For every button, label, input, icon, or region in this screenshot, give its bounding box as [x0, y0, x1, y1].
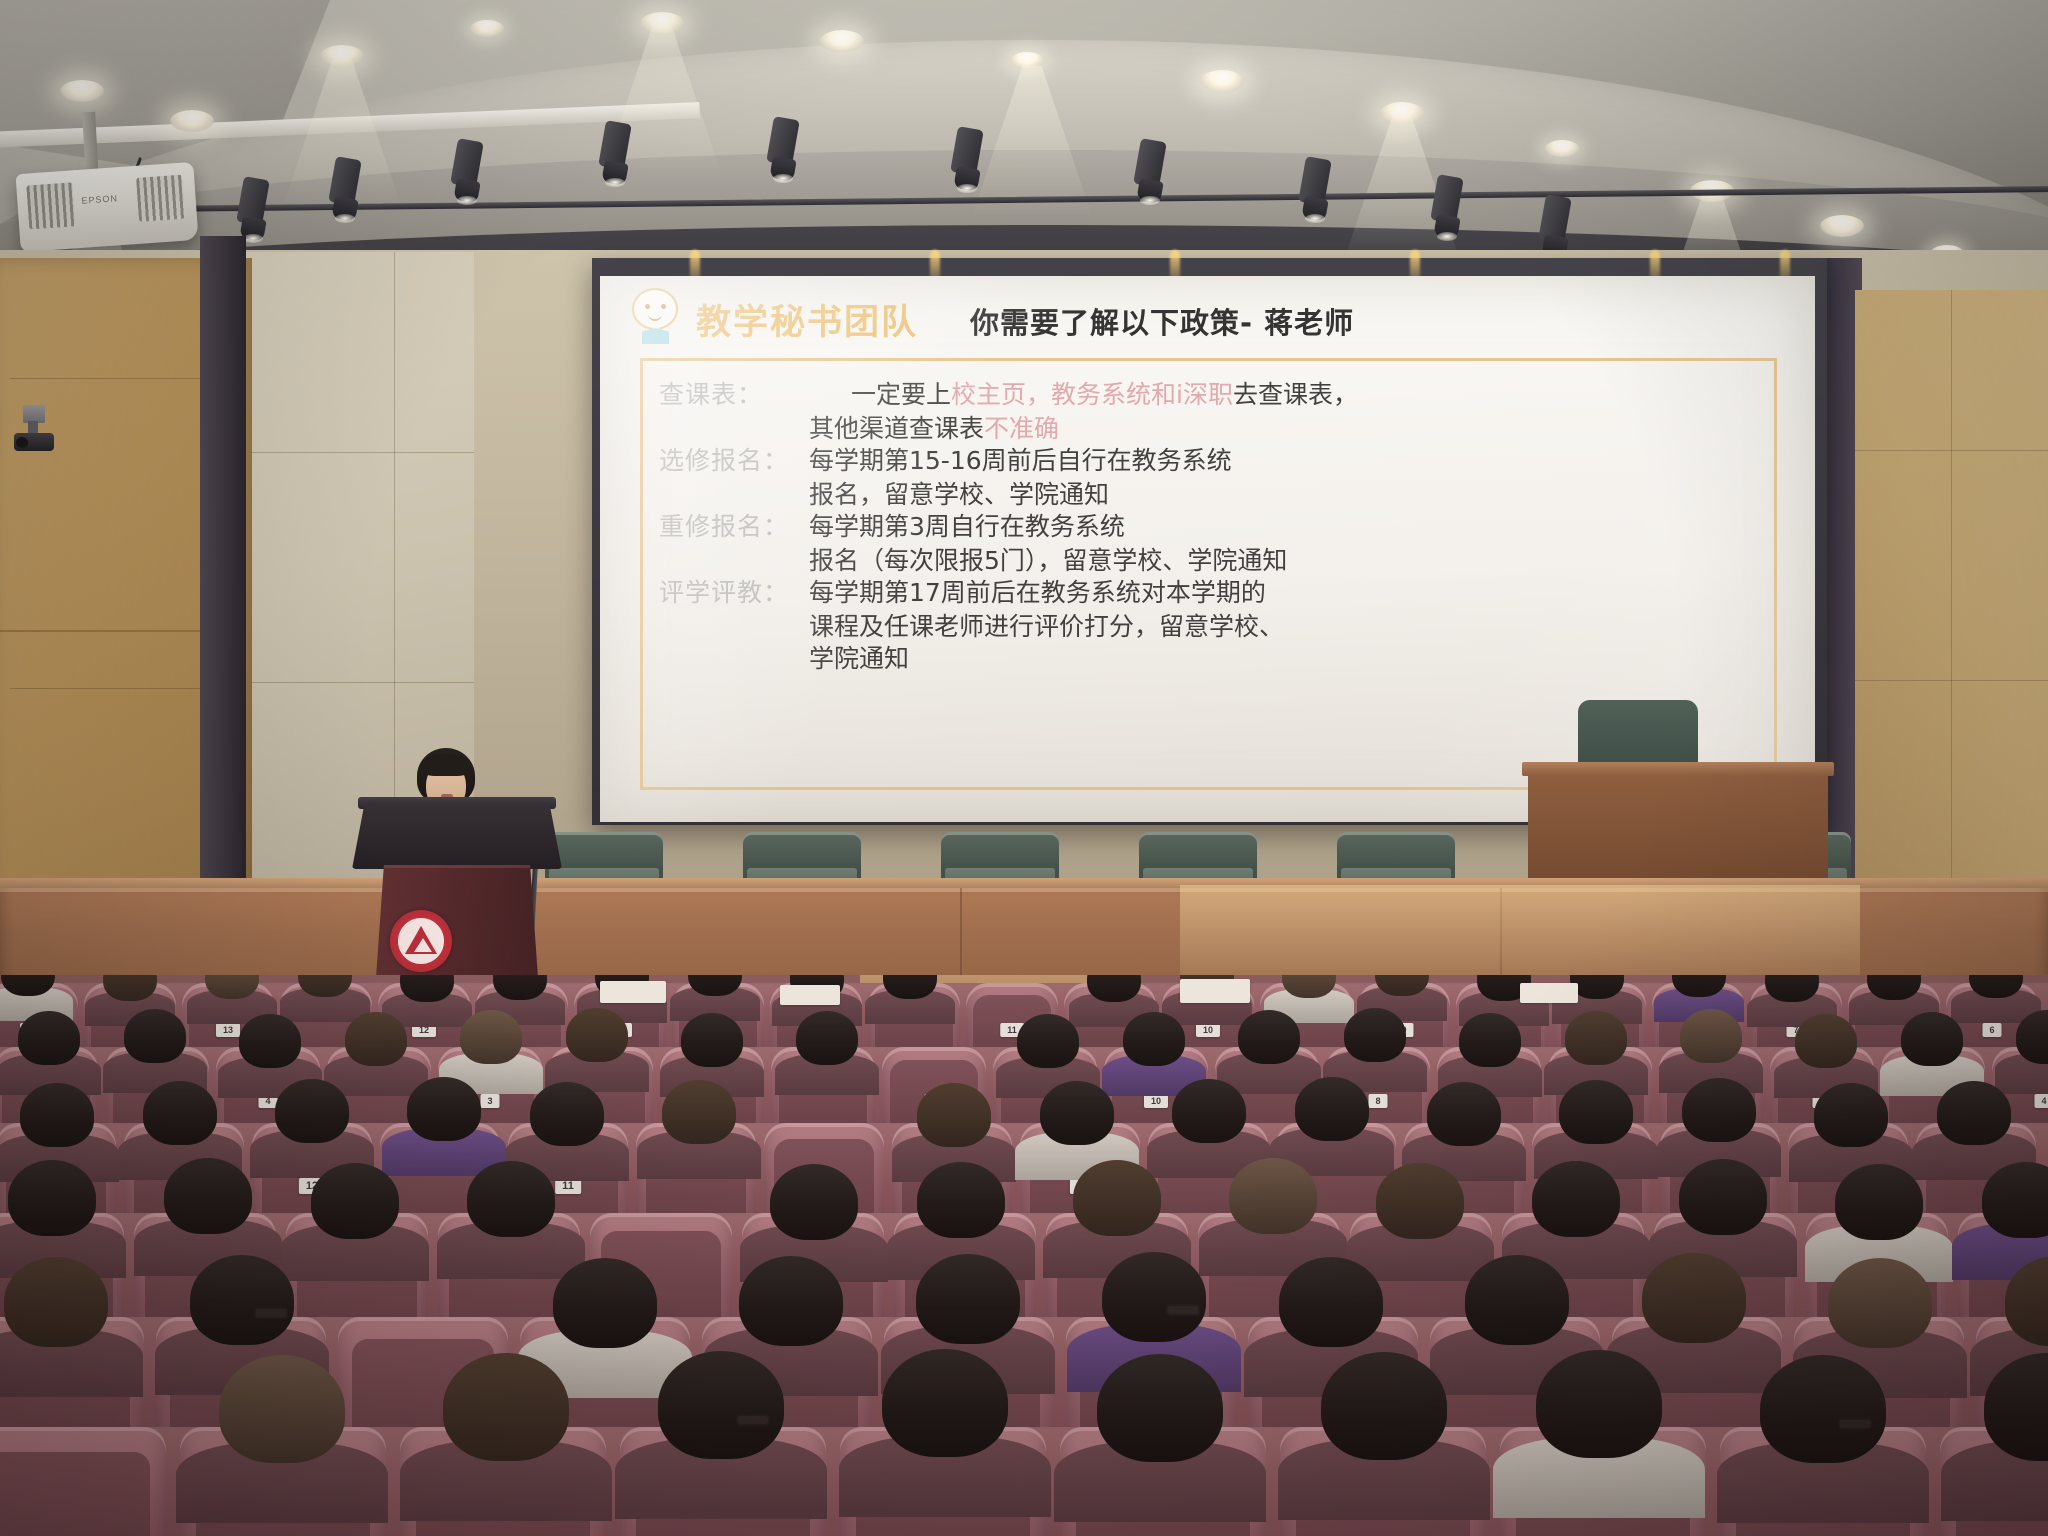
audience-member-head — [1040, 1081, 1114, 1145]
track-spotlight — [768, 118, 798, 182]
track-spotlight — [1135, 140, 1165, 204]
audience-member-head — [770, 1164, 858, 1240]
audience-member-head — [681, 1013, 743, 1067]
audience-member-head — [467, 1161, 555, 1237]
audience-seating: 141312131211109876543261089642121187 — [0, 975, 2048, 1536]
audience-member-head — [530, 1082, 604, 1146]
audience-member-head — [407, 1077, 481, 1141]
paper-sheet — [1520, 983, 1578, 1003]
audience-member-head — [566, 1008, 628, 1062]
audience-member-head — [8, 1160, 96, 1236]
audience-member-head — [18, 1011, 80, 1065]
audience-member-head — [460, 1010, 522, 1064]
audience-member-head — [1073, 1160, 1161, 1236]
eyeglasses-icon — [1166, 1304, 1200, 1316]
policy-label: 查课表： — [659, 379, 809, 412]
audience-member-head — [1465, 1255, 1569, 1345]
slide-brand: 教学秘书团队 — [696, 294, 918, 345]
ceiling-downlight — [1545, 140, 1579, 157]
audience-member-head — [1682, 1078, 1756, 1142]
policy-row-evaluation-line3: 学院通知 — [659, 643, 1766, 676]
audience-member-head — [1229, 1158, 1317, 1234]
policy-row-retake: 重修报名： 每学期第3周自行在教务系统 — [659, 511, 1766, 544]
audience-member-head — [1102, 1252, 1206, 1342]
ceiling-projector: EPSON — [15, 162, 198, 252]
audience-member-head — [1814, 1083, 1888, 1147]
audience-member-head — [662, 1080, 736, 1144]
policy-text: 每学期第15-16周前后自行在教务系统 — [809, 445, 1766, 478]
audience-member-head — [1376, 1163, 1464, 1239]
ceiling-downlight — [820, 30, 864, 52]
audience-member-head — [311, 1163, 399, 1239]
audience-member-head — [916, 1254, 1020, 1344]
audience-member-head — [553, 1258, 657, 1348]
audience-seat[interactable] — [0, 1427, 166, 1536]
audience-member-head — [917, 1162, 1005, 1238]
podium-desktop — [352, 803, 562, 869]
audience-member-head — [917, 1083, 991, 1147]
audience-member-head — [1559, 1080, 1633, 1144]
audience-member-head — [219, 1355, 345, 1463]
seat-number-tag: 6 — [1982, 1023, 2001, 1037]
side-stage-desk — [1528, 772, 1828, 890]
policy-text: 每学期第17周前后在教务系统对本学期的 — [809, 577, 1766, 610]
camera-lens-icon — [16, 437, 28, 448]
policy-row-elective: 选修报名： 每学期第15-16周前后自行在教务系统 — [659, 445, 1766, 478]
seat-number-tag: 10 — [1144, 1094, 1168, 1108]
audience-member-head — [1680, 1009, 1742, 1063]
eyeglasses-icon — [736, 1414, 770, 1426]
policy-text: 一定要上校主页，教务系统和i深职去查课表， — [809, 379, 1766, 412]
ceiling-downlight — [1820, 215, 1864, 237]
ceiling-downlight — [320, 45, 364, 67]
paper-sheet — [780, 985, 840, 1005]
audience-member-head — [1828, 1258, 1932, 1348]
audience-member-head — [1427, 1082, 1501, 1146]
seat-number-tag: 3 — [480, 1094, 499, 1108]
track-spotlight — [1300, 158, 1330, 222]
ceiling-downlight — [60, 80, 104, 102]
ceiling-downlight — [1380, 102, 1424, 124]
audience-member-head — [796, 1011, 858, 1065]
audience-member-head — [190, 1255, 294, 1345]
track-spotlight — [600, 122, 630, 186]
paper-sheet — [600, 981, 666, 1003]
audience-member-head — [1795, 1014, 1857, 1068]
track-spotlight — [952, 128, 982, 192]
policy-label: 评学评教： — [659, 577, 809, 610]
audience-member-head — [1017, 1014, 1079, 1068]
audience-member-head — [658, 1351, 784, 1459]
ceiling-downlight — [1010, 52, 1044, 69]
projector-brand-label: EPSON — [81, 193, 118, 206]
projector-vent-right — [136, 175, 185, 222]
track-spotlight — [330, 158, 360, 222]
policy-row-elective-line2: 报名，留意学校、学院通知 — [659, 479, 1766, 512]
policy-text: 每学期第3周自行在教务系统 — [809, 511, 1766, 544]
seat-number-tag: 13 — [216, 1023, 240, 1037]
ceiling-downlight — [640, 12, 684, 34]
audience-member-head — [239, 1014, 301, 1068]
paper-sheet — [1180, 979, 1250, 1003]
audience-member-head — [1321, 1352, 1447, 1460]
audience-member-head — [275, 1079, 349, 1143]
eyeglasses-icon — [254, 1307, 288, 1319]
slide-header: 教学秘书团队 你需要了解以下政策- 蒋老师 — [620, 288, 1795, 350]
audience-member-head — [20, 1083, 94, 1147]
policy-row-schedule-line2: 其他渠道查课表不准确 — [659, 413, 1766, 446]
policy-label: 选修报名： — [659, 445, 809, 478]
ceiling-downlight — [470, 20, 504, 37]
audience-member-head — [1679, 1159, 1767, 1235]
eyeglasses-icon — [1838, 1418, 1872, 1430]
seat-number-tag: 10 — [1196, 1023, 1220, 1037]
audience-member-head — [1532, 1161, 1620, 1237]
track-spotlight — [238, 178, 268, 242]
audience-member-head — [1760, 1355, 1886, 1463]
seat-number-tag: 8 — [1368, 1094, 1387, 1108]
audience-member-head — [1565, 1011, 1627, 1065]
audience-member-head — [143, 1081, 217, 1145]
audience-member-head — [739, 1256, 843, 1346]
audience-member-head — [1642, 1253, 1746, 1343]
smiley-face-doodle-icon — [628, 284, 682, 346]
seat-number-tag: 4 — [2034, 1094, 2048, 1108]
slide-title: 你需要了解以下政策- 蒋老师 — [970, 300, 1354, 342]
audience-member-head — [1295, 1077, 1369, 1141]
policy-row-schedule: 查课表： 一定要上校主页，教务系统和i深职去查课表， — [659, 379, 1766, 412]
audience-member-head — [1172, 1079, 1246, 1143]
ceiling-downlight — [1200, 70, 1244, 92]
audience-member-head — [1279, 1257, 1383, 1347]
ceiling-downlight — [170, 110, 214, 132]
audience-member-head — [124, 1009, 186, 1063]
audience-member-head — [164, 1158, 252, 1234]
policy-row-evaluation-line2: 课程及任课老师进行评价打分，留意学校、 — [659, 611, 1766, 644]
audience-member-head — [1459, 1013, 1521, 1067]
track-spotlight — [452, 140, 482, 204]
university-crest-icon — [390, 910, 452, 972]
audience-member-head — [1536, 1350, 1662, 1458]
audience-member-head — [1937, 1081, 2011, 1145]
auditorium-photo: EPSON — [0, 0, 2048, 1536]
policy-row-retake-line2: 报名（每次限报5门），留意学校、学院通知 — [659, 545, 1766, 578]
audience-member-head — [1344, 1008, 1406, 1062]
audience-member-head — [1835, 1164, 1923, 1240]
audience-member-head — [443, 1353, 569, 1461]
projector-vent-left — [26, 182, 75, 229]
policy-label: 重修报名： — [659, 511, 809, 544]
audience-member-head — [882, 1349, 1008, 1457]
audience-member-head — [1123, 1012, 1185, 1066]
track-spotlight — [1432, 176, 1462, 240]
audience-member-head — [1097, 1354, 1223, 1462]
wall-mounted-camera — [14, 405, 54, 453]
audience-member-head — [1901, 1012, 1963, 1066]
audience-member-head — [345, 1012, 407, 1066]
policy-row-evaluation: 评学评教： 每学期第17周前后在教务系统对本学期的 — [659, 577, 1766, 610]
audience-member-head — [4, 1257, 108, 1347]
audience-member-head — [1238, 1010, 1300, 1064]
